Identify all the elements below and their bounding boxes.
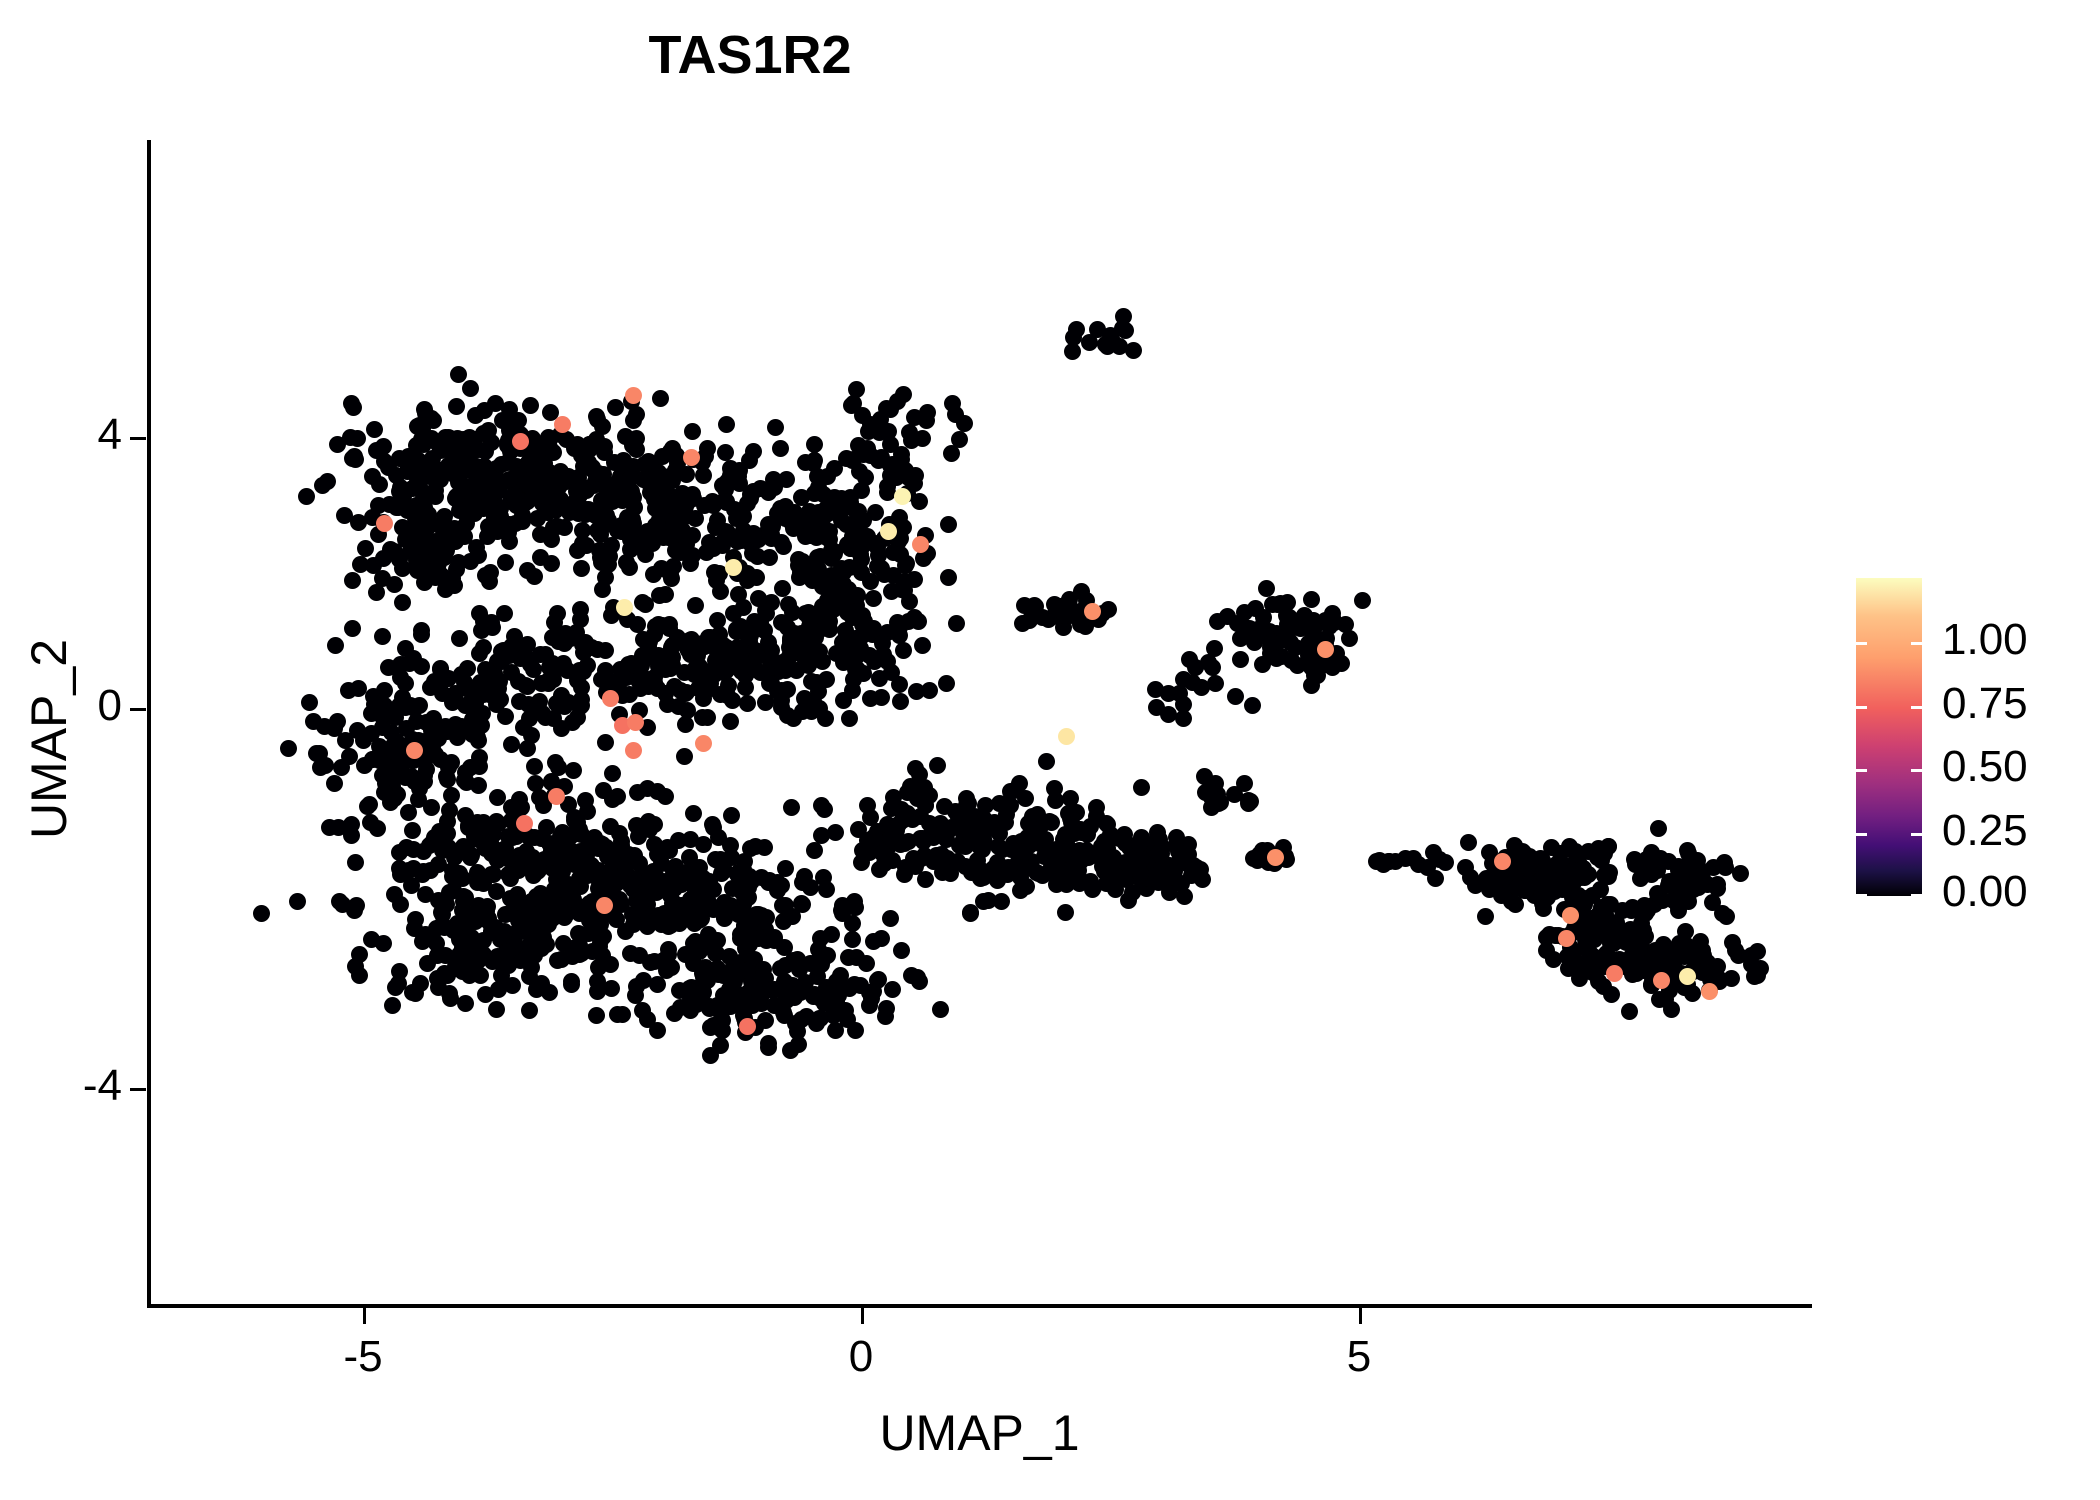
scatter-point xyxy=(1064,343,1081,360)
scatter-point xyxy=(1244,697,1261,714)
colorbar-tick-0-00-right xyxy=(1911,894,1922,897)
scatter-point xyxy=(537,913,554,930)
scatter-point xyxy=(742,928,759,945)
scatter-point xyxy=(1635,962,1652,979)
scatter-point xyxy=(699,709,716,726)
scatter-point-expressing xyxy=(406,742,423,759)
scatter-point xyxy=(390,975,407,992)
scatter-point xyxy=(532,526,549,543)
colorbar-tick-0-75-left xyxy=(1856,706,1867,709)
scatter-point xyxy=(462,380,479,397)
scatter-point xyxy=(457,995,474,1012)
scatter-point xyxy=(732,654,749,671)
scatter-point xyxy=(705,1017,722,1034)
colorbar-label-0-00: 0.00 xyxy=(1942,867,2028,917)
scatter-point xyxy=(1597,906,1614,923)
scatter-point xyxy=(462,553,479,570)
scatter-point xyxy=(407,538,424,555)
scatter-point xyxy=(987,862,1004,879)
scatter-point xyxy=(484,953,501,970)
scatter-point xyxy=(1477,908,1494,925)
scatter-point xyxy=(816,528,833,545)
scatter-point xyxy=(1061,591,1078,608)
scatter-point xyxy=(951,837,968,854)
scatter-point xyxy=(494,412,511,429)
scatter-point-expressing xyxy=(1317,641,1334,658)
scatter-point xyxy=(895,386,912,403)
scatter-point xyxy=(847,1022,864,1039)
scatter-point xyxy=(848,381,865,398)
scatter-point xyxy=(844,931,861,948)
scatter-point xyxy=(654,842,671,859)
x-tick-mark-0 xyxy=(861,1308,864,1324)
scatter-point xyxy=(500,957,517,974)
scatter-point xyxy=(949,853,966,870)
scatter-point xyxy=(479,912,496,929)
scatter-point xyxy=(811,700,828,717)
scatter-point xyxy=(911,493,928,510)
scatter-point xyxy=(382,541,399,558)
scatter-point xyxy=(1048,876,1065,893)
scatter-point xyxy=(478,425,495,442)
scatter-point xyxy=(400,804,417,821)
scatter-point-expressing xyxy=(548,788,565,805)
scatter-point xyxy=(526,758,543,775)
scatter-point xyxy=(373,707,390,724)
scatter-point-expressing xyxy=(625,742,642,759)
scatter-point xyxy=(329,713,346,730)
scatter-point xyxy=(1624,899,1641,916)
scatter-point xyxy=(1543,839,1560,856)
scatter-point-expressing xyxy=(625,387,642,404)
scatter-point xyxy=(911,973,928,990)
scatter-point xyxy=(815,869,832,886)
scatter-point xyxy=(394,519,411,536)
scatter-point xyxy=(1204,659,1221,676)
scatter-point xyxy=(640,529,657,546)
scatter-point xyxy=(1133,779,1150,796)
scatter-point xyxy=(723,807,740,824)
scatter-point xyxy=(838,516,855,533)
scatter-point xyxy=(627,987,644,1004)
scatter-point xyxy=(835,564,852,581)
scatter-point xyxy=(859,797,876,814)
scatter-point xyxy=(591,507,608,524)
scatter-point xyxy=(895,642,912,659)
scatter-point xyxy=(646,953,663,970)
scatter-point xyxy=(649,976,666,993)
scatter-point xyxy=(663,959,680,976)
scatter-point xyxy=(803,673,820,690)
scatter-point xyxy=(411,697,428,714)
scatter-point xyxy=(720,677,737,694)
scatter-point xyxy=(749,648,766,665)
scatter-point xyxy=(1115,308,1132,325)
scatter-point xyxy=(1034,609,1051,626)
scatter-point xyxy=(613,456,630,473)
scatter-point xyxy=(1038,753,1055,770)
scatter-point xyxy=(761,525,778,542)
scatter-point xyxy=(344,620,361,637)
scatter-point-expressing xyxy=(1701,983,1718,1000)
scatter-point xyxy=(844,915,861,932)
scatter-point-expressing xyxy=(1679,968,1696,985)
x-tick-mark-5 xyxy=(1359,1308,1362,1324)
scatter-point xyxy=(349,430,366,447)
scatter-point xyxy=(374,628,391,645)
scatter-point xyxy=(975,893,992,910)
scatter-point xyxy=(728,621,745,638)
scatter-point xyxy=(1193,679,1210,696)
scatter-point xyxy=(502,870,519,887)
scatter-point xyxy=(408,497,425,514)
scatter-point xyxy=(687,597,704,614)
scatter-point xyxy=(479,528,496,545)
scatter-point xyxy=(929,757,946,774)
scatter-point xyxy=(439,813,456,830)
scatter-point xyxy=(1194,871,1211,888)
scatter-point xyxy=(670,523,687,540)
scatter-point-expressing xyxy=(1084,603,1101,620)
scatter-point xyxy=(392,896,409,913)
scatter-point xyxy=(311,745,328,762)
scatter-point xyxy=(625,412,642,429)
scatter-point xyxy=(1079,826,1096,843)
scatter-point xyxy=(806,436,823,453)
colorbar-label-0-50: 0.50 xyxy=(1942,742,2028,792)
scatter-point xyxy=(589,522,606,539)
scatter-point xyxy=(1669,940,1686,957)
scatter-point xyxy=(1303,591,1320,608)
x-tick-label-neg5: -5 xyxy=(303,1332,423,1382)
scatter-point xyxy=(877,1008,894,1025)
scatter-point xyxy=(1663,1001,1680,1018)
scatter-point xyxy=(948,615,965,632)
scatter-point xyxy=(630,828,647,845)
scatter-point xyxy=(883,664,900,681)
scatter-point xyxy=(1147,681,1164,698)
scatter-point xyxy=(380,459,397,476)
scatter-point xyxy=(882,910,899,927)
scatter-point xyxy=(1125,342,1142,359)
scatter-point xyxy=(545,444,562,461)
scatter-point xyxy=(737,679,754,696)
x-axis-label: UMAP_1 xyxy=(147,1404,1812,1462)
scatter-point xyxy=(1660,877,1677,894)
scatter-point xyxy=(485,826,502,843)
scatter-point xyxy=(563,973,580,990)
scatter-point xyxy=(806,842,823,859)
scatter-point xyxy=(497,708,514,725)
scatter-point xyxy=(480,468,497,485)
scatter-point xyxy=(841,710,858,727)
scatter-point xyxy=(695,690,712,707)
scatter-point xyxy=(1460,834,1477,851)
scatter-point xyxy=(514,513,531,530)
scatter-point xyxy=(826,460,843,477)
scatter-point xyxy=(1166,863,1183,880)
scatter-point xyxy=(366,421,383,438)
scatter-point xyxy=(565,762,582,779)
scatter-point xyxy=(572,611,589,628)
y-axis-label: UMAP_2 xyxy=(20,155,78,1323)
scatter-point-expressing xyxy=(1267,849,1284,866)
scatter-point xyxy=(500,828,517,845)
scatter-point xyxy=(876,855,893,872)
scatter-point xyxy=(376,682,393,699)
scatter-point xyxy=(596,444,613,461)
scatter-point xyxy=(1521,875,1538,892)
scatter-point xyxy=(446,849,463,866)
scatter-point xyxy=(583,857,600,874)
scatter-point xyxy=(327,637,344,654)
scatter-point xyxy=(321,819,338,836)
scatter-point xyxy=(1541,870,1558,887)
scatter-point-expressing xyxy=(1562,907,1579,924)
scatter-point xyxy=(1324,605,1341,622)
scatter-point xyxy=(607,399,624,416)
scatter-point xyxy=(629,784,646,801)
page-title: TAS1R2 xyxy=(0,24,1500,86)
scatter-point xyxy=(329,436,346,453)
scatter-point xyxy=(452,462,469,479)
scatter-point xyxy=(1148,699,1165,716)
scatter-point xyxy=(506,487,523,504)
scatter-point xyxy=(1670,862,1687,879)
scatter-point xyxy=(850,437,867,454)
scatter-point xyxy=(386,769,403,786)
scatter-point xyxy=(1694,964,1711,981)
scatter-point xyxy=(588,1007,605,1024)
scatter-point xyxy=(914,637,931,654)
scatter-point xyxy=(679,702,696,719)
scatter-point xyxy=(424,834,441,851)
scatter-point xyxy=(1131,835,1148,852)
scatter-point xyxy=(714,662,731,679)
scatter-point xyxy=(1626,851,1643,868)
scatter-point xyxy=(645,863,662,880)
scatter-point xyxy=(843,652,860,669)
scatter-point xyxy=(828,598,845,615)
colorbar-tick-0-25-left xyxy=(1856,833,1867,836)
colorbar-tick-0-25-right xyxy=(1911,833,1922,836)
scatter-point xyxy=(694,635,711,652)
umap-feature-plot: TAS1R2 4 0 -4 -5 0 5 UMAP_1 UMAP_2 1.00 … xyxy=(0,0,2100,1500)
scatter-point xyxy=(1207,775,1224,792)
scatter-point xyxy=(853,628,870,645)
scatter-point xyxy=(1057,836,1074,853)
scatter-point xyxy=(845,671,862,688)
scatter-point xyxy=(609,1006,626,1023)
scatter-point xyxy=(589,983,606,1000)
scatter-point xyxy=(1716,854,1733,871)
scatter-point xyxy=(893,942,910,959)
scatter-point xyxy=(797,652,814,669)
scatter-point xyxy=(445,922,462,939)
scatter-point xyxy=(809,510,826,527)
scatter-point xyxy=(750,590,767,607)
scatter-point xyxy=(617,864,634,881)
scatter-point xyxy=(488,1001,505,1018)
scatter-point xyxy=(539,504,556,521)
scatter-point xyxy=(1684,985,1701,1002)
y-axis-line xyxy=(147,140,151,1308)
scatter-point xyxy=(482,501,499,518)
scatter-point xyxy=(809,468,826,485)
scatter-point xyxy=(413,622,430,639)
scatter-point xyxy=(791,961,808,978)
scatter-point xyxy=(1650,820,1667,837)
scatter-point xyxy=(906,409,923,426)
scatter-point xyxy=(846,976,863,993)
scatter-point xyxy=(347,854,364,871)
scatter-point xyxy=(855,512,872,529)
scatter-point xyxy=(960,795,977,812)
scatter-point xyxy=(1427,870,1444,887)
scatter-point xyxy=(1695,947,1712,964)
scatter-point xyxy=(865,590,882,607)
colorbar-label-0-75: 0.75 xyxy=(1942,679,2028,729)
x-axis-line xyxy=(147,1304,1812,1308)
scatter-point xyxy=(892,693,909,710)
y-tick-mark-0 xyxy=(130,708,146,711)
scatter-point xyxy=(660,909,677,926)
scatter-point xyxy=(343,816,360,833)
scatter-point xyxy=(1250,623,1267,640)
colorbar-tick-1-00-left xyxy=(1856,642,1867,645)
scatter-point-expressing xyxy=(596,897,613,914)
scatter-point xyxy=(1098,875,1115,892)
scatter-point xyxy=(298,488,315,505)
scatter-point xyxy=(1538,942,1555,959)
scatter-point xyxy=(253,905,270,922)
scatter-point xyxy=(417,886,434,903)
scatter-point xyxy=(1567,845,1584,862)
scatter-point xyxy=(849,587,866,604)
scatter-point xyxy=(947,406,964,423)
scatter-point xyxy=(730,864,747,881)
scatter-point xyxy=(646,816,663,833)
scatter-point xyxy=(588,408,605,425)
scatter-point-expressing xyxy=(516,815,533,832)
scatter-point xyxy=(326,775,343,792)
scatter-point xyxy=(622,531,639,548)
scatter-point xyxy=(977,797,994,814)
scatter-point xyxy=(1082,875,1099,892)
scatter-point xyxy=(608,911,625,928)
scatter-point xyxy=(490,981,507,998)
scatter-point xyxy=(1240,792,1257,809)
scatter-point xyxy=(1249,852,1266,869)
scatter-point xyxy=(426,725,443,742)
scatter-point xyxy=(761,549,778,566)
scatter-point xyxy=(859,832,876,849)
scatter-point xyxy=(1209,613,1226,630)
scatter-point xyxy=(921,682,938,699)
scatter-point xyxy=(745,443,762,460)
scatter-point-expressing xyxy=(512,433,529,450)
scatter-point-expressing xyxy=(1058,728,1075,745)
scatter-point xyxy=(573,945,590,962)
scatter-point xyxy=(774,580,791,597)
scatter-point-expressing xyxy=(695,735,712,752)
scatter-point xyxy=(671,982,688,999)
scatter-point xyxy=(423,430,440,447)
scatter-point xyxy=(632,895,649,912)
scatter-point-expressing xyxy=(602,690,619,707)
scatter-point xyxy=(569,542,586,559)
scatter-point xyxy=(688,996,705,1013)
scatter-point xyxy=(823,926,840,943)
scatter-point xyxy=(383,724,400,741)
scatter-point xyxy=(1206,640,1223,657)
scatter-point xyxy=(488,883,505,900)
scatter-point xyxy=(695,836,712,853)
scatter-point xyxy=(521,1002,538,1019)
scatter-point xyxy=(527,775,544,792)
colorbar-tick-0-50-left xyxy=(1856,769,1867,772)
scatter-point xyxy=(519,562,536,579)
scatter-point xyxy=(685,805,702,822)
scatter-point-expressing xyxy=(1494,853,1511,870)
scatter-point xyxy=(496,605,513,622)
colorbar-gradient xyxy=(1856,578,1922,896)
scatter-point xyxy=(940,569,957,586)
scatter-point xyxy=(744,997,761,1014)
scatter-point xyxy=(716,894,733,911)
scatter-point xyxy=(1268,650,1285,667)
scatter-point xyxy=(1203,799,1220,816)
scatter-point xyxy=(735,508,752,525)
scatter-point xyxy=(470,441,487,458)
scatter-point xyxy=(1057,904,1074,921)
scatter-point xyxy=(730,586,747,603)
scatter-point xyxy=(794,896,811,913)
scatter-point-expressing xyxy=(554,416,571,433)
scatter-point xyxy=(1064,860,1081,877)
scatter-point xyxy=(352,556,369,573)
scatter-point xyxy=(386,576,403,593)
scatter-point xyxy=(836,632,853,649)
scatter-point xyxy=(621,559,638,576)
scatter-point xyxy=(1643,866,1660,883)
scatter-point-expressing xyxy=(894,488,911,505)
scatter-point xyxy=(709,612,726,629)
scatter-point xyxy=(870,971,887,988)
scatter-point xyxy=(760,634,777,651)
scatter-point xyxy=(450,366,467,383)
scatter-point xyxy=(772,960,789,977)
scatter-point-expressing xyxy=(739,1018,756,1035)
scatter-point xyxy=(427,488,444,505)
scatter-point xyxy=(391,844,408,861)
scatter-point-expressing xyxy=(376,515,393,532)
scatter-point xyxy=(453,482,470,499)
scatter-point xyxy=(666,1005,683,1022)
scatter-point xyxy=(569,819,586,836)
scatter-point xyxy=(346,902,363,919)
scatter-point xyxy=(1709,876,1726,893)
scatter-point xyxy=(781,648,798,665)
scatter-point xyxy=(617,428,634,445)
scatter-point xyxy=(384,997,401,1014)
scatter-point xyxy=(739,962,756,979)
scatter-point xyxy=(906,475,923,492)
scatter-point xyxy=(609,788,626,805)
scatter-point xyxy=(702,539,719,556)
scatter-point xyxy=(391,483,408,500)
scatter-point xyxy=(577,634,594,651)
